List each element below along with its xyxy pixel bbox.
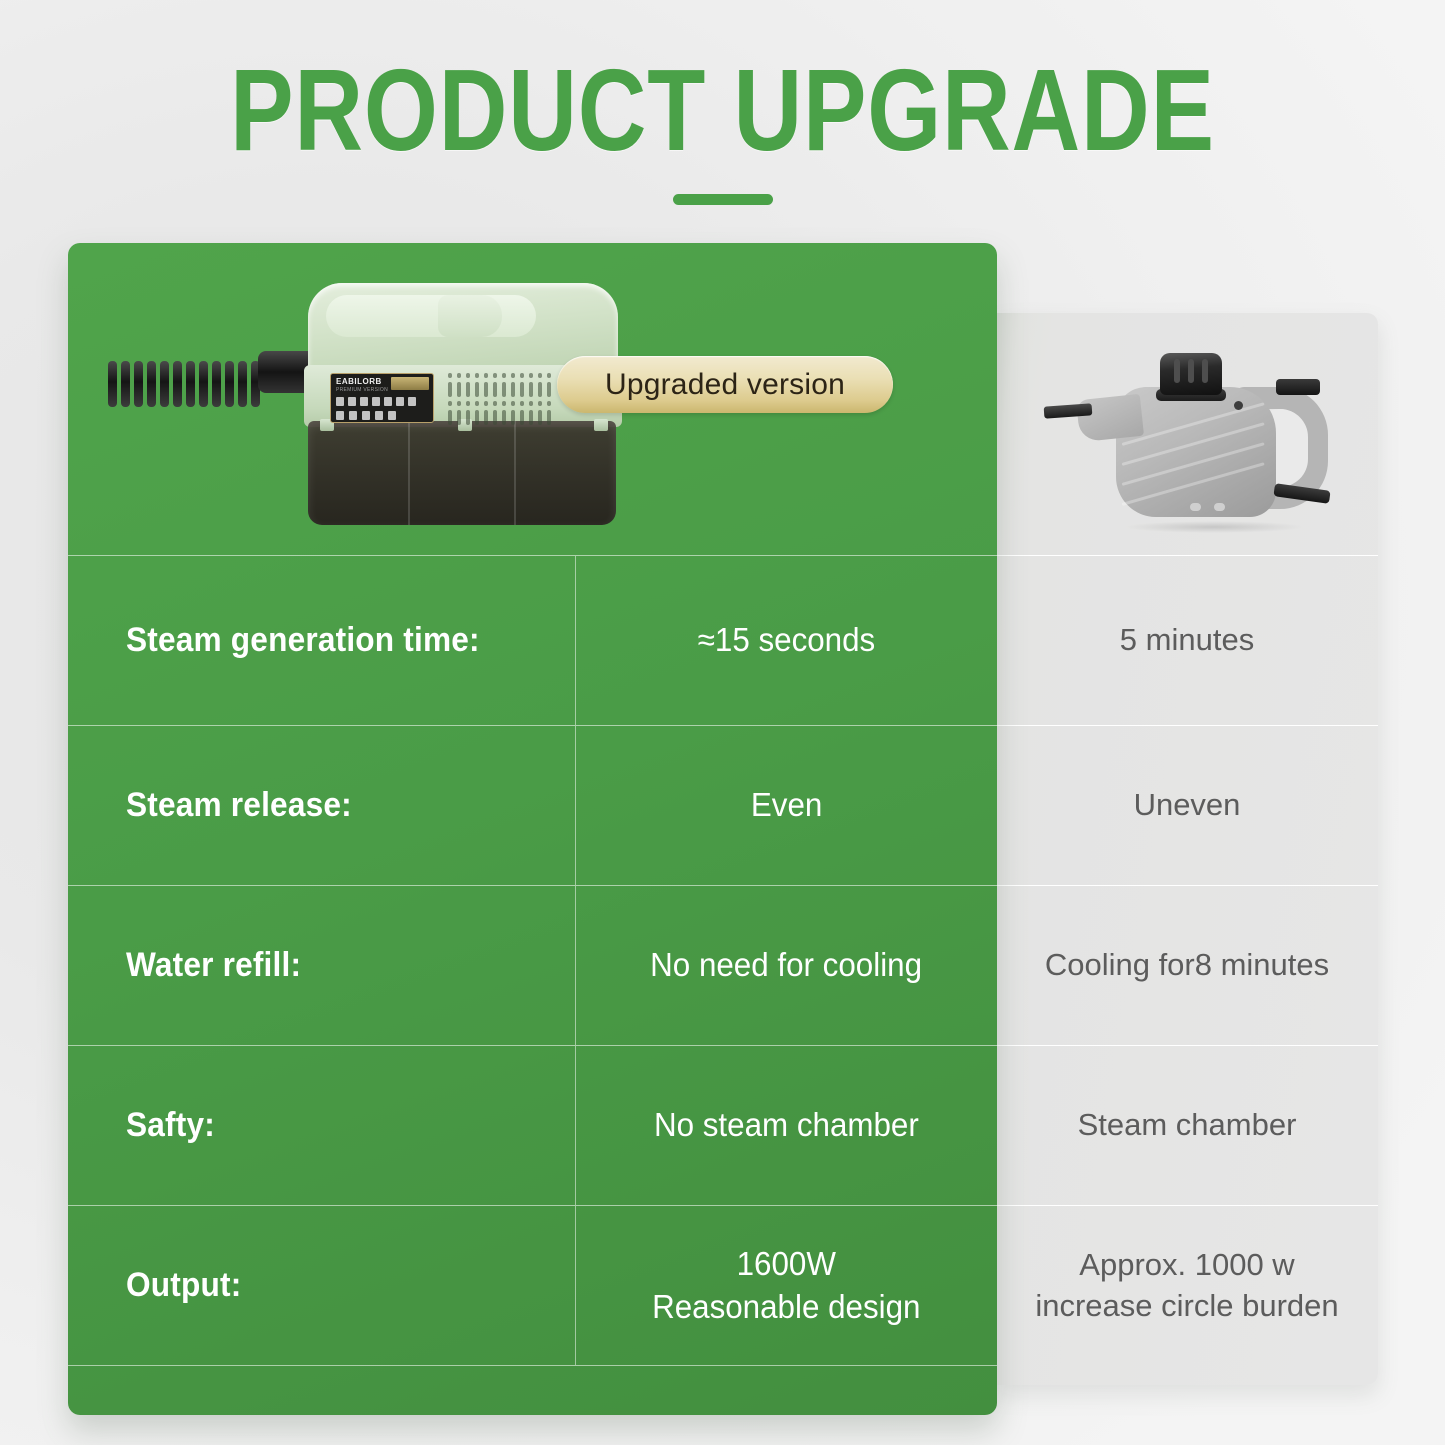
product-label-plate: EABILORB PREMIUM VERSION xyxy=(330,373,434,423)
old-value-cell: Steam chamber xyxy=(996,1045,1378,1205)
cap-ridge xyxy=(1174,359,1180,383)
safety-cap xyxy=(1160,353,1222,395)
label-icon-row xyxy=(336,411,396,420)
cap-ridge xyxy=(1202,359,1208,383)
upgraded-version-badge: Upgraded version xyxy=(557,356,893,413)
old-value-line: Uneven xyxy=(1134,785,1241,825)
tile-icon xyxy=(362,411,370,420)
page-title: PRODUCT UPGRADE xyxy=(130,52,1315,168)
title-accent-rule xyxy=(673,194,773,205)
iron-icon xyxy=(349,411,357,420)
new-value-cell: No need for cooling xyxy=(575,886,997,1045)
basket-icon xyxy=(384,397,392,406)
sofa-icon xyxy=(375,411,383,420)
row-label: Safty: xyxy=(68,1046,575,1205)
water-tank xyxy=(308,421,616,525)
row-label: Water refill: xyxy=(68,886,575,1045)
new-value-cell: ≈15 seconds xyxy=(575,556,997,725)
old-value-line: 5 minutes xyxy=(1120,620,1254,660)
indicator-dot xyxy=(1234,401,1243,410)
new-value-line: No need for cooling xyxy=(651,944,923,986)
new-value-cell: Even xyxy=(575,726,997,885)
control-button xyxy=(1190,503,1201,511)
upgraded-version-panel: EABILORB PREMIUM VERSION xyxy=(68,243,997,1415)
old-value-line: Steam chamber xyxy=(1078,1105,1297,1145)
old-version-panel: 5 minutes Uneven Cooling for8 minutes St… xyxy=(996,313,1378,1385)
control-button xyxy=(1214,503,1225,511)
page-header: PRODUCT UPGRADE xyxy=(0,52,1445,205)
row-label-text: Steam release: xyxy=(126,786,352,825)
old-values-grid: 5 minutes Uneven Cooling for8 minutes St… xyxy=(996,555,1378,1385)
row-label: Steam generation time: xyxy=(68,556,575,725)
handheld-steam-cleaner-illustration xyxy=(1038,335,1338,541)
spout xyxy=(1076,394,1144,442)
product-shadow xyxy=(1124,521,1304,533)
cap-ridge xyxy=(1188,359,1194,383)
old-value-line: Cooling for8 minutes xyxy=(1045,945,1329,985)
door-icon xyxy=(388,411,396,420)
old-value-cell: 5 minutes xyxy=(996,555,1378,725)
row-label: Steam release: xyxy=(68,726,575,885)
label-brand: EABILORB xyxy=(336,377,382,386)
spray-icon xyxy=(360,397,368,406)
trigger-button xyxy=(1276,379,1320,395)
upgraded-steam-cleaner-illustration: EABILORB PREMIUM VERSION xyxy=(108,273,628,533)
old-value-cell: Uneven xyxy=(996,725,1378,885)
bed-icon xyxy=(348,397,356,406)
lid xyxy=(326,295,536,337)
table-row: Water refill: No need for cooling xyxy=(68,885,997,1045)
label-rating-badge xyxy=(391,377,429,390)
label-icon-row xyxy=(336,397,416,406)
lid-tab xyxy=(438,295,502,337)
old-product-image xyxy=(996,313,1378,555)
new-value-line: No steam chamber xyxy=(654,1104,919,1146)
row-label-text: Output: xyxy=(126,1266,241,1305)
old-value-cell: Cooling for8 minutes xyxy=(996,885,1378,1045)
table-footer-strip xyxy=(68,1365,997,1415)
new-value-line: Reasonable design xyxy=(652,1286,920,1328)
hourglass-icon xyxy=(408,397,416,406)
car-icon xyxy=(336,411,344,420)
new-value-line: 1600W xyxy=(737,1243,836,1285)
new-value-cell: No steam chamber xyxy=(575,1046,997,1205)
table-row: Steam release: Even xyxy=(68,725,997,885)
new-value-cell: 1600W Reasonable design xyxy=(575,1206,997,1365)
recycle-icon xyxy=(396,397,404,406)
table-row: Output: 1600W Reasonable design xyxy=(68,1205,997,1365)
flame-icon xyxy=(336,397,344,406)
label-subtitle: PREMIUM VERSION xyxy=(336,387,388,393)
comparison-table: Steam generation time: ≈15 seconds Steam… xyxy=(68,555,997,1415)
row-label-text: Safty: xyxy=(126,1106,215,1145)
new-value-line: ≈15 seconds xyxy=(698,619,876,661)
row-label-text: Steam generation time: xyxy=(126,621,480,660)
tank-foot xyxy=(594,419,608,431)
plug-icon xyxy=(372,397,380,406)
new-value-line: Even xyxy=(751,784,822,826)
old-value-cell: Approx. 1000 w increase circle burden xyxy=(996,1205,1378,1365)
row-label: Output: xyxy=(68,1206,575,1365)
table-row: Safty: No steam chamber xyxy=(68,1045,997,1205)
row-label-text: Water refill: xyxy=(126,946,301,985)
old-value-line: Approx. 1000 w xyxy=(1079,1245,1294,1285)
old-value-line: increase circle burden xyxy=(1035,1286,1338,1326)
new-product-hero: EABILORB PREMIUM VERSION xyxy=(68,243,997,555)
table-row: Steam generation time: ≈15 seconds xyxy=(68,555,997,725)
